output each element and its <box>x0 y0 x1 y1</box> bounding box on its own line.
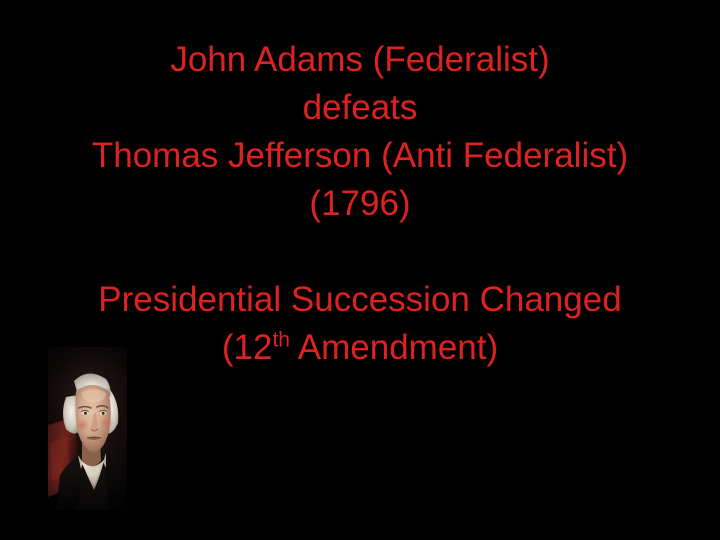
slide-line-2: defeats <box>0 84 720 132</box>
slide-line-6: Presidential Succession Changed <box>0 276 720 324</box>
slide-text-block: John Adams (Federalist) defeats Thomas J… <box>0 36 720 372</box>
amendment-suffix: Amendment) <box>290 328 498 367</box>
amendment-ordinal-suffix: th <box>272 328 290 351</box>
amendment-prefix: (12 <box>222 328 273 367</box>
slide-line-3: Thomas Jefferson (Anti Federalist) <box>0 132 720 180</box>
slide-line-4: (1796) <box>0 180 720 228</box>
portrait-illustration <box>48 347 127 510</box>
slide-blank-line <box>0 228 720 276</box>
slide-line-1: John Adams (Federalist) <box>0 36 720 84</box>
slide-canvas: John Adams (Federalist) defeats Thomas J… <box>0 0 720 540</box>
john-adams-portrait-image <box>48 347 127 510</box>
